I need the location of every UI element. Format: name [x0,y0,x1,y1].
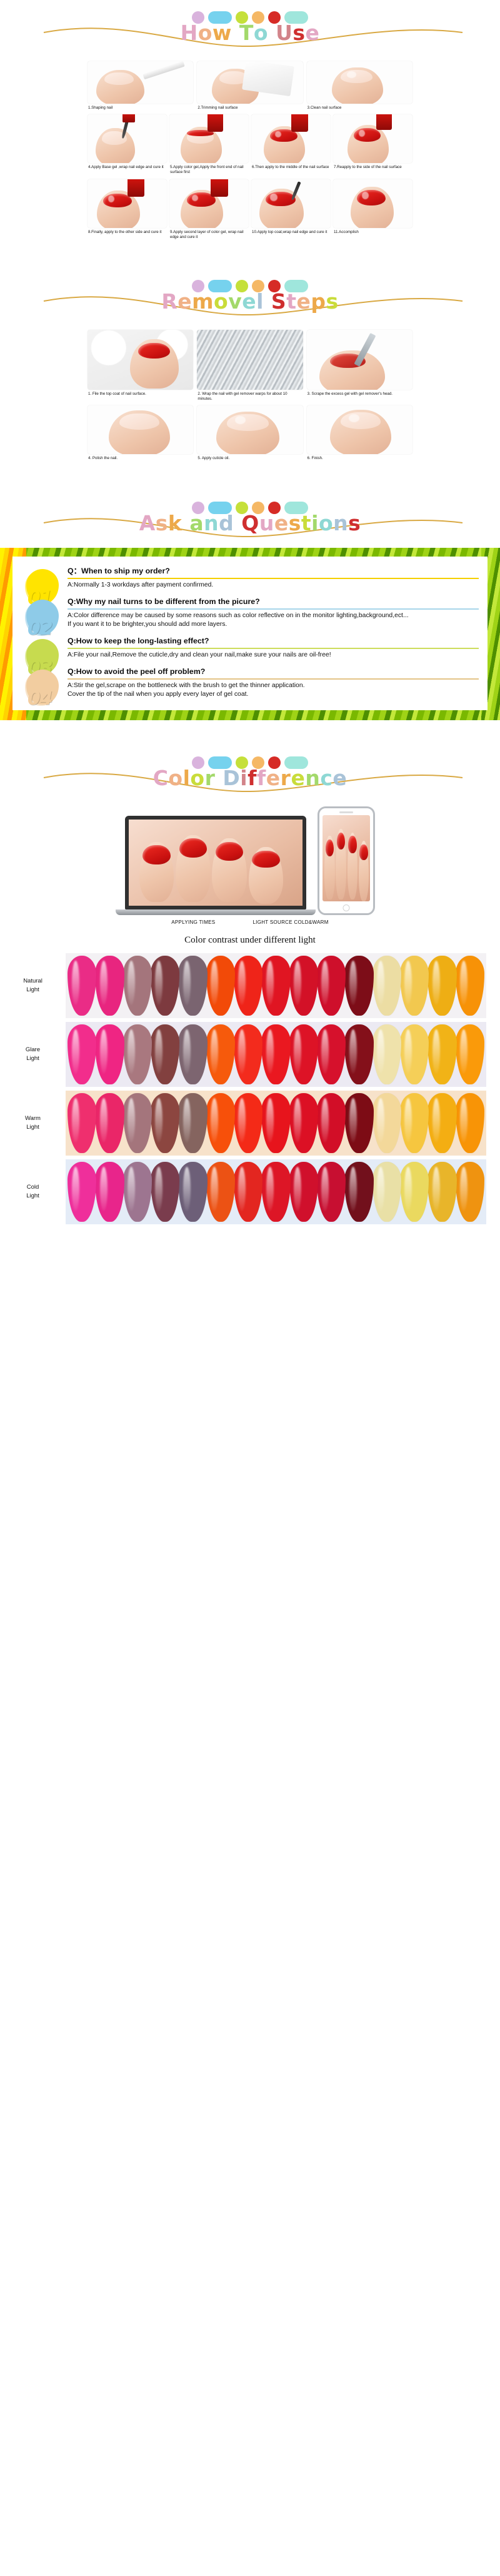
swatch-chip [67,1024,96,1084]
swatch-chip [178,956,207,1016]
swatch-chip [289,1162,318,1222]
swatch-chip [344,1024,373,1084]
swatch-gloss [266,1167,274,1211]
step-photo-apply-other-side [87,179,167,228]
swatch-gloss [100,1167,107,1211]
removal-photo-wrap-with-remover [197,330,302,390]
title-letter: d [219,513,234,533]
swatch-chip [344,1162,373,1222]
swatch-chip [95,956,124,1016]
device-comparison [87,806,412,915]
step-caption: 5. Apply cuticle oil. [197,456,302,461]
color-contrast-chart: NaturalLightGlareLightWarmLightColdLight [0,953,500,1224]
removal-photo-polish-nail [87,405,193,454]
step-photo-top-coat [251,179,331,228]
swatch-gloss [266,1029,274,1074]
step-card: 7.Reapply to the side of the nail surfac… [333,114,412,179]
title-letter: p [311,291,326,312]
page-title-removal-steps: Removel Steps [0,291,500,312]
swatch-label-line: Natural [0,977,66,986]
title-letter: a [189,513,204,533]
step-caption: 6.Then apply to the middle of the nail s… [252,165,330,170]
decor-pill-4 [268,11,281,24]
step-photo-trimming-nail-surface [197,61,302,104]
swatch-gloss [349,1029,357,1074]
decor-pill-0 [192,280,204,292]
swatch-gloss [72,1167,79,1211]
swatch-gloss [349,961,357,1005]
step-card: 8.Finally, apply to the other side and c… [87,179,167,244]
title-letter: i [240,768,247,788]
laptop-base [116,909,316,915]
title-letter: T [239,22,254,43]
decor-pill-5 [284,502,308,514]
swatch-row: GlareLight [0,1022,500,1087]
title-letter: r [205,768,216,788]
title-letter: r [281,768,291,788]
swatch-gloss [432,1098,440,1142]
decor-pill-2 [236,11,248,24]
swatch-gloss [238,961,246,1005]
device-labels: APPLYING TIMES LIGHT SOURCE COLD&WARM [87,919,412,925]
swatch-gloss [100,961,107,1005]
title-letter: s [292,22,305,43]
swatch-strip [66,953,486,1018]
swatch-gloss [183,1098,191,1142]
title-letter: u [259,513,274,533]
title-letter: t [301,513,311,533]
swatch-gloss [349,1167,357,1211]
step-caption: 11.Accomplish [334,230,412,235]
faq-question: Q:Why my nail turns to be different from… [67,597,479,607]
phone-speaker [339,811,353,813]
swatch-chip [427,1024,456,1084]
faq-answer: A:Color difference may be caused by some… [67,612,479,629]
title-letter [268,22,276,43]
swatch-label-line: Cold [0,1183,66,1192]
swatch-gloss [321,1098,329,1142]
how-to-use-row-1: 1.Shaping nail 2.Trimming nail surface 3… [87,61,412,114]
swatch-gloss [266,961,274,1005]
faq-item-02: 02Q:Why my nail turns to be different fr… [21,597,479,629]
swatch-strip [66,1022,486,1087]
swatch-gloss [183,1029,191,1074]
swatch-chip [178,1162,207,1222]
swatch-gloss [377,1029,384,1074]
step-caption: 5.Apply color gel,Apply the front end of… [170,165,248,175]
page-title-faq: Ask and Questions [0,513,500,533]
removal-steps: 1. File the top coat of nail surface. 2.… [87,330,412,465]
title-letter: e [242,291,256,312]
label-applying-times: APPLYING TIMES [171,919,215,925]
decor-pill-2 [236,502,248,514]
swatch-chip [234,1093,262,1153]
swatch-gloss [127,961,135,1005]
step-card: 9.Apply second layer of color gel, wrap … [169,179,249,244]
swatch-chip [427,1162,456,1222]
swatch-chip [317,956,346,1016]
phone-screen-image [322,815,370,901]
swatch-chip [151,956,179,1016]
title-letter: f [257,768,266,788]
removal-photo-apply-cuticle-oil [197,405,302,454]
swatch-chip [123,956,152,1016]
swatch-gloss [294,1029,301,1074]
swatch-chip [123,1093,152,1153]
step-caption: 8.Finally, apply to the other side and c… [88,230,166,235]
decor-pill-row [0,502,500,514]
step-card: 2. Wrap the nail with gel remover warps … [197,330,302,405]
badge-number: 04 [27,688,52,710]
decor-pill-1 [208,11,232,24]
swatch-label-line: Light [0,1192,66,1201]
decor-pill-1 [208,280,232,292]
swatch-gloss [432,961,440,1005]
swatch-gloss [377,961,384,1005]
swatch-chip [178,1024,207,1084]
swatch-chip [67,1162,96,1222]
swatch-gloss [211,1167,218,1211]
swatch-gloss [127,1029,135,1074]
swatch-chip [261,1093,290,1153]
faq-answer: A:Normally 1-3 workdays after payment co… [67,581,479,590]
title-letter: o [198,22,212,43]
step-card: 6.Then apply to the middle of the nail s… [251,114,331,179]
swatch-gloss [404,961,412,1005]
swatch-gloss [404,1167,412,1211]
removal-photo-scrape-excess-gel [307,330,412,390]
swatch-chip [400,1162,429,1222]
laptop-screen-image [125,816,306,909]
step-photo-second-layer [169,179,249,228]
faq-item-01: 01Q：When to ship my order?A:Normally 1-3… [21,567,479,590]
title-letter: k [168,513,182,533]
step-caption: 10.Apply top coat,wrap nail edge and cur… [252,230,330,235]
step-card: 11.Accomplish [333,179,412,244]
swatch-gloss [321,961,329,1005]
title-letter: A [139,513,156,533]
swatch-gloss [238,1167,246,1211]
swatch-chip [261,956,290,1016]
title-letter: s [156,513,168,533]
faq-question: Q:How to keep the long-lasting effect? [67,637,479,646]
faq-question: Q：When to ship my order? [67,567,479,576]
step-caption: 4. Polish the nail. [88,456,192,461]
decor-pill-5 [284,280,308,292]
decor-pill-3 [252,280,264,292]
decor-pill-1 [208,502,232,514]
step-caption: 1.Shaping nail [88,106,192,111]
title-letter: o [168,768,182,788]
swatch-chip [289,1093,318,1153]
page-title-color-difference: Color Difference [0,768,500,788]
faq-divider [67,678,479,680]
how-to-use-row-2: 4.Apply Base gel ,wrap nail edge and cur… [87,114,412,179]
faq-green-band: 01Q：When to ship my order?A:Normally 1-3… [0,548,500,720]
how-to-use-row-3: 8.Finally, apply to the other side and c… [87,179,412,244]
title-letter [215,768,222,788]
step-card: 5.Apply color gel,Apply the front end of… [169,114,249,179]
title-letter: U [276,22,292,43]
swatch-chip [317,1024,346,1084]
faq-number-badge: 04 [25,670,64,708]
step-photo-accomplish [333,179,412,228]
swatch-chip [234,1024,262,1084]
step-photo-reapply-side [333,114,412,163]
decor-pill-4 [268,502,281,514]
title-letter: o [254,22,268,43]
swatch-chip [344,1093,373,1153]
swatch-chip [289,1024,318,1084]
swatch-gloss [72,1098,79,1142]
faq-item-04: 04Q:How to avoid the peel off problem?A:… [21,667,479,699]
swatch-gloss [155,1098,162,1142]
swatch-chip [206,1024,235,1084]
decor-pill-4 [268,280,281,292]
step-card: 3. Scrape the excess gel with gel remove… [307,330,412,405]
swatch-chip [456,956,484,1016]
swatch-gloss [294,1167,301,1211]
swatch-chip [123,1162,152,1222]
swatch-chip [317,1093,346,1153]
title-letter: Q [241,513,259,533]
swatch-chip [178,1093,207,1153]
decor-pill-row [0,280,500,292]
swatch-gloss [100,1098,107,1142]
decor-pill-row [0,756,500,769]
removal-row-1: 1. File the top coat of nail surface. 2.… [87,330,412,405]
decor-pill-3 [252,502,264,514]
swatch-gloss [460,1029,467,1074]
laptop-mockup [125,816,306,915]
step-caption: 2. Wrap the nail with gel remover warps … [197,392,302,402]
swatch-gloss [404,1029,412,1074]
title-letter: m [192,291,214,312]
title-letter: w [212,22,232,43]
removal-photo-file-top-coat [87,330,193,390]
title-letter: f [247,768,257,788]
title-letter: o [190,768,204,788]
title-letter: R [161,291,177,312]
swatch-label-line: Light [0,1123,66,1132]
swatch-chip [234,956,262,1016]
faq-divider [67,608,479,610]
step-card: 1. File the top coat of nail surface. [87,330,193,405]
step-card: 2.Trimming nail surface [197,61,302,114]
page-title-how-to-use: How To Use [0,22,500,43]
title-letter: o [214,291,228,312]
title-letter: e [274,513,289,533]
section-header-faq: Ask and Questions [0,490,500,548]
swatch-chip [456,1162,484,1222]
step-caption: 1. File the top coat of nail surface. [88,392,192,397]
step-caption: 9.Apply second layer of color gel, wrap … [170,230,248,240]
swatch-chip [400,956,429,1016]
title-letter: n [204,513,219,533]
title-letter [264,291,271,312]
step-caption: 4.Apply Base gel ,wrap nail edge and cur… [88,165,166,170]
faq-answer: A:File your nail,Remove the cuticle,dry … [67,651,479,660]
swatch-gloss [211,1098,218,1142]
title-letter: n [305,768,320,788]
swatch-label-line: Warm [0,1114,66,1123]
step-card: 10.Apply top coat,wrap nail edge and cur… [251,179,331,244]
swatch-chip [95,1024,124,1084]
swatch-chip [261,1162,290,1222]
decor-pill-3 [252,756,264,769]
title-letter: l [183,768,191,788]
removal-photo-finish [307,405,412,454]
step-photo-apply-middle [251,114,331,163]
swatch-gloss [155,1167,162,1211]
swatch-gloss [211,961,218,1005]
swatch-chip [372,1162,401,1222]
swatch-chip [206,956,235,1016]
title-letter: s [326,291,339,312]
color-contrast-title: Color contrast under different light [0,935,500,946]
section-header-how-to-use: How To Use [0,0,500,57]
title-letter: H [181,22,198,43]
swatch-gloss [377,1098,384,1142]
swatch-chip [344,956,373,1016]
swatch-gloss [404,1098,412,1142]
swatch-gloss [183,961,191,1005]
decor-pill-5 [284,756,308,769]
swatch-chip [427,956,456,1016]
title-letter: i [311,513,319,533]
step-photo-apply-base-gel [87,114,167,163]
faq-item-03: 03Q:How to keep the long-lasting effect?… [21,637,479,660]
swatch-gloss [238,1029,246,1074]
swatch-gloss [294,1098,301,1142]
swatch-chip [427,1093,456,1153]
decor-pill-2 [236,280,248,292]
step-caption: 7.Reapply to the side of the nail surfac… [334,165,412,170]
title-letter: e [177,291,192,312]
swatch-strip [66,1159,486,1224]
swatch-gloss [321,1167,329,1211]
step-caption: 2.Trimming nail surface [197,106,302,111]
swatch-chip [372,956,401,1016]
faq-section: 01Q：When to ship my order?A:Normally 1-3… [0,548,500,720]
swatch-gloss [460,1167,467,1211]
title-letter: C [153,768,169,788]
swatch-label-line: Light [0,1054,66,1063]
swatch-gloss [127,1098,135,1142]
swatch-gloss [127,1167,135,1211]
faq-divider [67,648,479,649]
title-letter [182,513,189,533]
step-photo-apply-color-gel-front [169,114,249,163]
swatch-gloss [238,1098,246,1142]
swatch-gloss [460,1098,467,1142]
title-letter: n [333,513,348,533]
swatch-gloss [155,1029,162,1074]
step-caption: 3.Clean nail surface [307,106,412,111]
swatch-chip [151,1093,179,1153]
section-header-removal-steps: Removel Steps [0,269,500,326]
title-letter: s [289,513,301,533]
swatch-gloss [321,1029,329,1074]
step-card: 4.Apply Base gel ,wrap nail edge and cur… [87,114,167,179]
swatch-chip [400,1093,429,1153]
title-letter: D [222,768,240,788]
swatch-gloss [432,1167,440,1211]
swatch-label-line: Light [0,986,66,994]
decor-pill-1 [208,756,232,769]
title-letter: S [271,291,286,312]
swatch-gloss [100,1029,107,1074]
section-header-color-difference: Color Difference [0,745,500,803]
swatch-strip [66,1091,486,1156]
decor-pill-3 [252,11,264,24]
swatch-chip [206,1162,235,1222]
label-light-source: LIGHT SOURCE COLD&WARM [252,919,328,925]
swatch-chip [151,1162,179,1222]
title-letter: v [228,291,242,312]
swatch-chip [67,956,96,1016]
title-letter: c [320,768,332,788]
swatch-chip [372,1024,401,1084]
step-card: 3.Clean nail surface [307,61,412,114]
title-letter [234,513,241,533]
swatch-label-line: Glare [0,1046,66,1054]
phone-home-button [343,904,350,911]
decor-pill-0 [192,756,204,769]
swatch-gloss [349,1098,357,1142]
title-letter: l [256,291,264,312]
swatch-gloss [72,961,79,1005]
step-card: 1.Shaping nail [87,61,193,114]
faq-card: 01Q：When to ship my order?A:Normally 1-3… [12,557,487,710]
decor-pill-4 [268,756,281,769]
swatch-chip [234,1162,262,1222]
swatch-gloss [432,1029,440,1074]
title-letter: e [306,22,320,43]
swatch-row-label: GlareLight [0,1046,66,1064]
swatch-chip [151,1024,179,1084]
step-card: 4. Polish the nail. [87,405,193,465]
swatch-chip [95,1093,124,1153]
swatch-row: NaturalLight [0,953,500,1018]
swatch-gloss [211,1029,218,1074]
swatch-row-label: NaturalLight [0,977,66,995]
decor-pill-0 [192,11,204,24]
step-card: 5. Apply cuticle oil. [197,405,302,465]
decor-pill-5 [284,11,308,24]
title-letter: e [291,768,305,788]
step-photo-clean-nail-surface [307,61,412,104]
swatch-chip [372,1093,401,1153]
swatch-chip [456,1024,484,1084]
swatch-row: ColdLight [0,1159,500,1224]
faq-question: Q:How to avoid the peel off problem? [67,667,479,676]
removal-row-2: 4. Polish the nail. 5. Apply cuticle oil… [87,405,412,465]
faq-divider [67,578,479,579]
swatch-chip [456,1093,484,1153]
swatch-gloss [460,961,467,1005]
swatch-chip [289,956,318,1016]
decor-pill-0 [192,502,204,514]
title-letter: o [319,513,333,533]
title-letter: e [266,768,281,788]
step-caption: 3. Scrape the excess gel with gel remove… [307,392,412,397]
title-letter: t [286,291,296,312]
title-letter [232,22,239,43]
swatch-chip [67,1093,96,1153]
step-card: 6. Finish. [307,405,412,465]
swatch-row: WarmLight [0,1091,500,1156]
